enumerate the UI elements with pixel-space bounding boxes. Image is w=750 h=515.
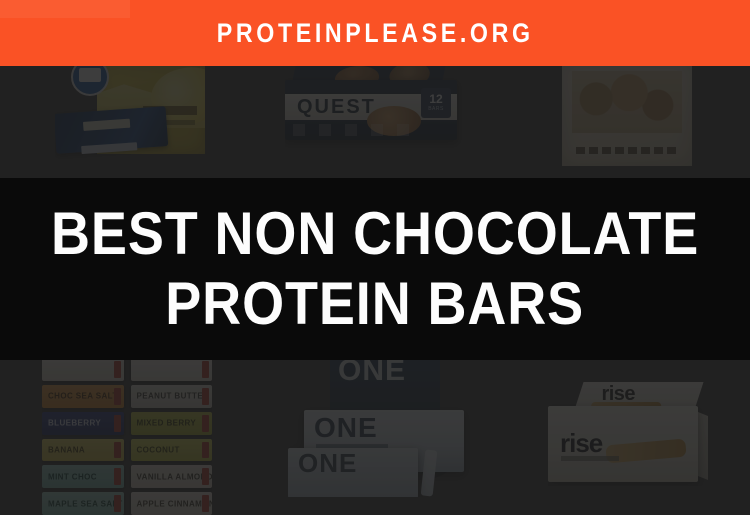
site-name-text[interactable]: PROTEINPLEASE.ORG xyxy=(217,18,534,49)
page-title-line-1: BEST NON CHOCOLATE xyxy=(51,205,699,263)
hero-banner: QUEST 12 BARS CHOC SEA SALT PEANUT BU xyxy=(0,0,750,515)
headline-band: BEST NON CHOCOLATE PROTEIN BARS xyxy=(0,178,750,360)
header-highlight xyxy=(0,0,130,18)
site-header-bar: PROTEINPLEASE.ORG xyxy=(0,0,750,66)
page-title-line-2: PROTEIN BARS xyxy=(166,275,585,333)
